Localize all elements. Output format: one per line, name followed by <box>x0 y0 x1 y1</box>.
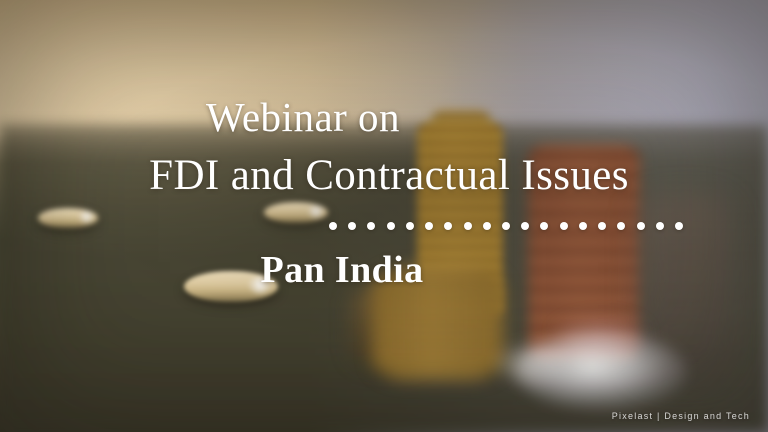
dotted-divider <box>329 221 683 230</box>
divider-dot <box>579 222 587 230</box>
poster-content: Webinar on FDI and Contractual Issues Pa… <box>0 0 768 432</box>
divider-dot <box>656 222 664 230</box>
divider-dot <box>425 222 433 230</box>
divider-dot <box>387 222 395 230</box>
divider-dot <box>560 222 568 230</box>
divider-dot <box>540 222 548 230</box>
divider-dot <box>464 222 472 230</box>
divider-dot <box>598 222 606 230</box>
webinar-eyebrow: Webinar on <box>0 94 606 140</box>
divider-dot <box>675 222 683 230</box>
webinar-region: Pan India <box>0 248 684 292</box>
divider-dot <box>444 222 452 230</box>
divider-dot <box>483 222 491 230</box>
divider-dot <box>617 222 625 230</box>
credit-watermark: Pixelast | Design and Tech <box>612 411 750 421</box>
divider-dot <box>367 222 375 230</box>
webinar-poster: Webinar on FDI and Contractual Issues Pa… <box>0 0 768 432</box>
divider-dot <box>406 222 414 230</box>
divider-dot <box>502 222 510 230</box>
divider-dot <box>637 222 645 230</box>
divider-dot <box>329 222 337 230</box>
divider-dot <box>521 222 529 230</box>
webinar-title: FDI and Contractual Issues <box>0 152 768 200</box>
divider-dot <box>348 222 356 230</box>
